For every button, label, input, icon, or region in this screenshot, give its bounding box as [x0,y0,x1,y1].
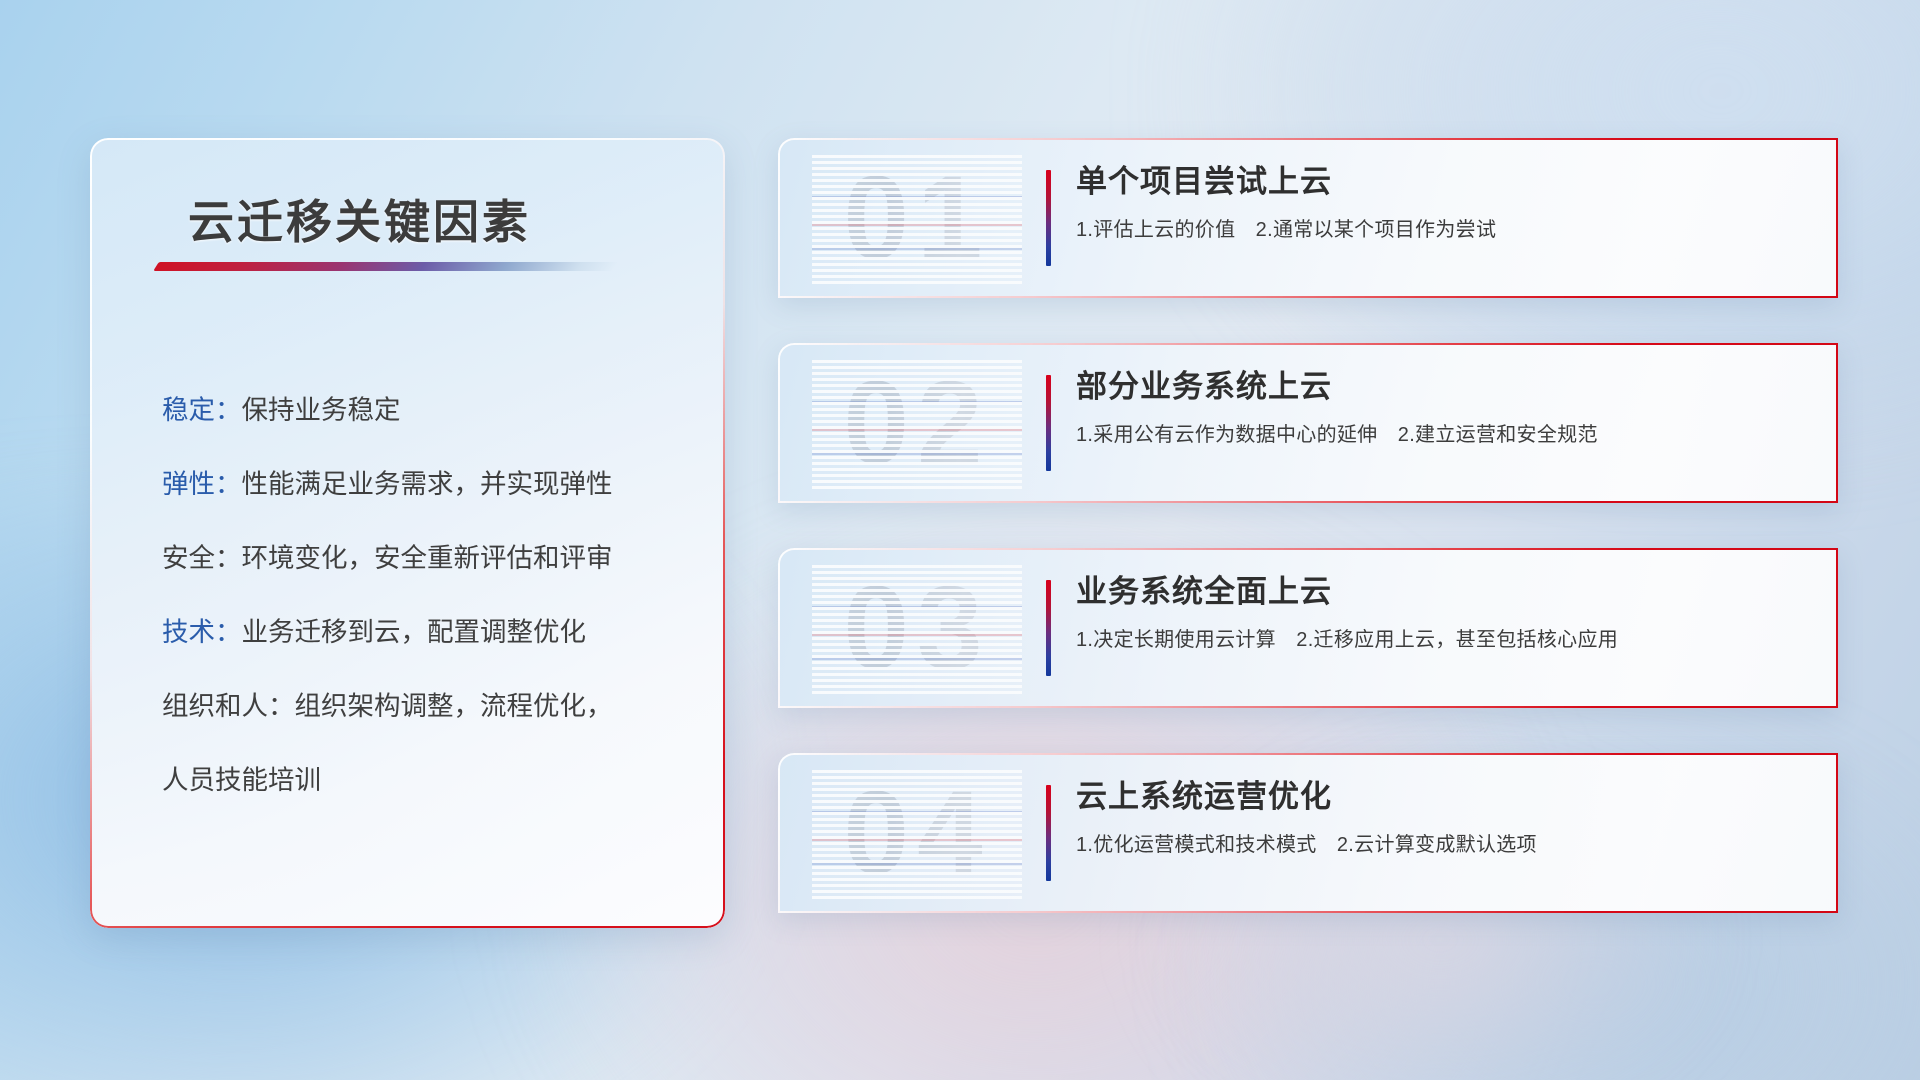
step-accent-bar [1046,375,1051,471]
key-factor-row: 技术：业务迁移到云，配置调整优化 [162,595,685,669]
step-title: 部分业务系统上云 [1076,365,1806,409]
step-number: 01 [812,152,1022,284]
step-title: 业务系统全面上云 [1076,570,1806,614]
key-factor-value: 业务迁移到云，配置调整优化 [242,617,587,647]
title-underline-accent [153,262,619,271]
migration-step-card[interactable]: 04云上系统运营优化1.优化运营模式和技术模式 2.云计算变成默认选项 [778,753,1838,913]
key-factor-row: 弹性：性能满足业务需求，并实现弹性 [162,447,685,521]
key-factor-value: 组织架构调整，流程优化， [295,691,613,721]
step-title: 单个项目尝试上云 [1076,160,1806,204]
step-accent-bar [1046,580,1051,676]
page-title: 云迁移关键因素 [188,186,531,252]
migration-steps-column: 01单个项目尝试上云1.评估上云的价值 2.通常以某个项目作为尝试02部分业务系… [778,138,1838,913]
key-factor-row: 安全：环境变化，安全重新评估和评审 [162,521,685,595]
step-text-block: 云上系统运营优化1.优化运营模式和技术模式 2.云计算变成默认选项 [1076,775,1806,859]
key-factor-row: 组织和人：组织架构调整，流程优化， [162,669,685,743]
key-factor-label: 稳定： [162,395,242,425]
step-text-block: 业务系统全面上云1.决定长期使用云计算 2.迁移应用上云，甚至包括核心应用 [1076,570,1806,654]
step-text-block: 部分业务系统上云1.采用公有云作为数据中心的延伸 2.建立运营和安全规范 [1076,365,1806,449]
key-factors-panel: 云迁移关键因素 稳定：保持业务稳定弹性：性能满足业务需求，并实现弹性安全：环境变… [90,138,725,928]
key-factor-label: 安全： [162,543,242,573]
step-number: 03 [812,562,1022,694]
key-factor-value: 环境变化，安全重新评估和评审 [242,543,613,573]
step-text-block: 单个项目尝试上云1.评估上云的价值 2.通常以某个项目作为尝试 [1076,160,1806,244]
key-factor-value: 人员技能培训 [162,765,321,795]
key-factors-list: 稳定：保持业务稳定弹性：性能满足业务需求，并实现弹性安全：环境变化，安全重新评估… [162,373,685,817]
step-accent-bar [1046,170,1051,266]
step-subtitle: 1.采用公有云作为数据中心的延伸 2.建立运营和安全规范 [1076,421,1806,449]
step-number-glyphs: 01 [812,152,1022,284]
step-number-glyphs: 04 [812,767,1022,899]
key-factor-label: 组织和人： [162,691,295,721]
step-subtitle: 1.优化运营模式和技术模式 2.云计算变成默认选项 [1076,831,1806,859]
slide-stage: 云迁移关键因素 稳定：保持业务稳定弹性：性能满足业务需求，并实现弹性安全：环境变… [0,0,1920,1080]
key-factor-value: 性能满足业务需求，并实现弹性 [242,469,613,499]
key-factor-row: 稳定：保持业务稳定 [162,373,685,447]
step-number-glyphs: 03 [812,562,1022,694]
step-title: 云上系统运营优化 [1076,775,1806,819]
step-number-glyphs: 02 [812,357,1022,489]
key-factor-value: 保持业务稳定 [242,395,401,425]
key-factor-label: 弹性： [162,469,242,499]
step-accent-bar [1046,785,1051,881]
step-subtitle: 1.评估上云的价值 2.通常以某个项目作为尝试 [1076,216,1806,244]
step-subtitle: 1.决定长期使用云计算 2.迁移应用上云，甚至包括核心应用 [1076,626,1806,654]
migration-step-card[interactable]: 03业务系统全面上云1.决定长期使用云计算 2.迁移应用上云，甚至包括核心应用 [778,548,1838,708]
key-factor-row: 人员技能培训 [162,743,685,817]
step-number: 02 [812,357,1022,489]
migration-step-card[interactable]: 02部分业务系统上云1.采用公有云作为数据中心的延伸 2.建立运营和安全规范 [778,343,1838,503]
step-number: 04 [812,767,1022,899]
migration-step-card[interactable]: 01单个项目尝试上云1.评估上云的价值 2.通常以某个项目作为尝试 [778,138,1838,298]
key-factor-label: 技术： [162,617,242,647]
